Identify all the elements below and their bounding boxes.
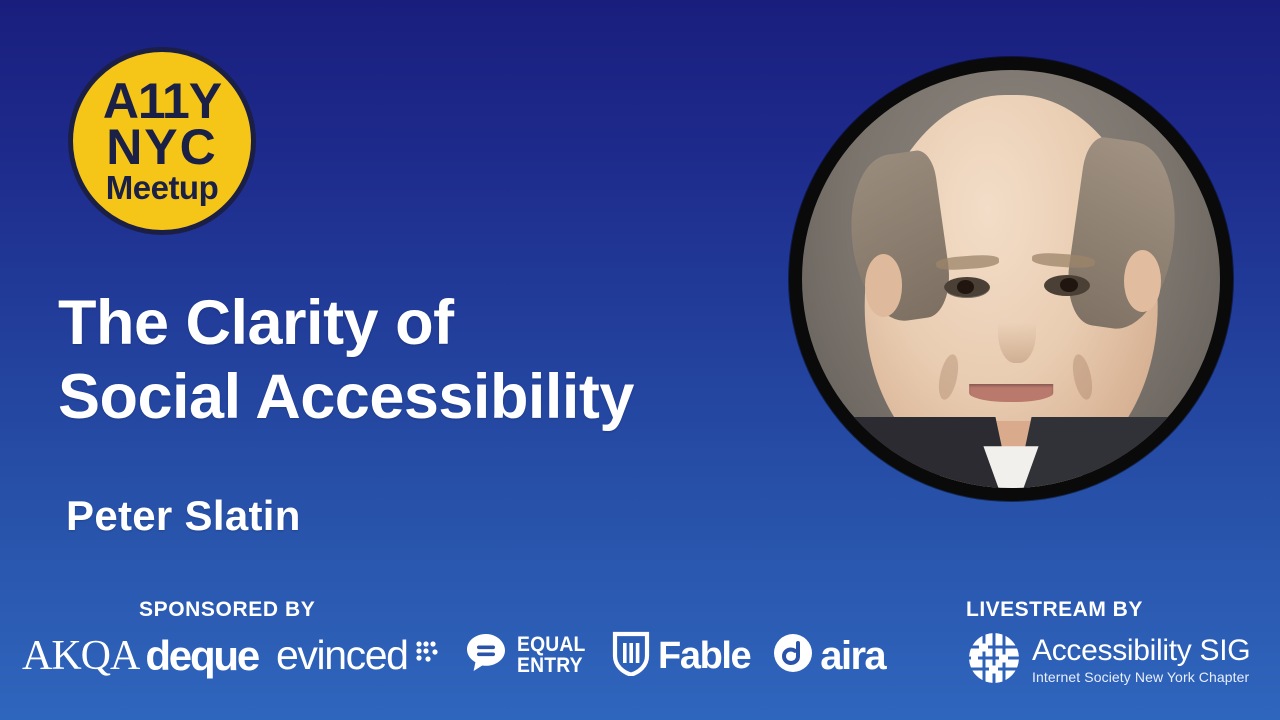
livestream-by-label: LIVESTREAM BY <box>966 598 1250 622</box>
sponsor-logo-row: AKQA deque evinced <box>0 630 920 681</box>
speaker-name: Peter Slatin <box>66 492 301 540</box>
fable-logo: Fable <box>611 630 750 681</box>
portrait-jacket-left <box>820 417 1011 488</box>
aira-mark-icon <box>772 632 814 679</box>
speaker-portrait <box>789 57 1233 501</box>
evinced-logo: evinced <box>276 635 408 676</box>
equal-entry-line-2: ENTRY <box>517 656 586 677</box>
accessibility-sig-logo: Accessibility SIG Internet Society New Y… <box>966 630 1250 691</box>
aira-logo: aira <box>772 632 885 679</box>
portrait-jacket-right <box>1016 417 1207 488</box>
deque-logo: deque <box>145 635 258 677</box>
speech-bubble-equals-icon <box>463 630 509 681</box>
talk-title-line-2: Social Accessibility <box>58 361 634 435</box>
logo-line-meetup: Meetup <box>106 173 219 203</box>
livestream-section: LIVESTREAM BY <box>966 598 1250 691</box>
talk-title-line-1: The Clarity of <box>58 287 634 361</box>
equal-entry-logo: EQUAL ENTRY <box>463 630 592 681</box>
sponsors-section: SPONSORED BY AKQA deque evinced <box>0 598 920 681</box>
logo-line-a11y: A11Y <box>103 78 221 124</box>
accessibility-sig-name: Accessibility SIG <box>1032 636 1250 667</box>
evinced-dot-matrix-icon <box>415 640 441 671</box>
logo-line-nyc: NYC <box>106 124 218 170</box>
accessibility-sig-subtitle: Internet Society New York Chapter <box>1032 669 1250 685</box>
event-slide: { "brand": { "line1": "A11Y", "line2": "… <box>0 0 1280 720</box>
sponsored-by-label: SPONSORED BY <box>139 598 920 622</box>
portrait-mouth <box>969 384 1053 403</box>
portrait-image <box>802 70 1220 488</box>
equal-entry-line-1: EQUAL <box>517 635 586 656</box>
portrait-nose <box>998 296 1036 363</box>
shield-icon <box>611 630 651 681</box>
a11y-nyc-meetup-logo: A11Y NYC Meetup <box>68 47 256 235</box>
talk-title: The Clarity of Social Accessibility <box>58 287 634 434</box>
globe-icon <box>966 630 1022 691</box>
aira-wordmark: aira <box>820 636 885 676</box>
fable-wordmark: Fable <box>658 637 750 675</box>
portrait-ear-left <box>865 254 903 317</box>
akqa-logo: AKQA <box>22 635 139 677</box>
